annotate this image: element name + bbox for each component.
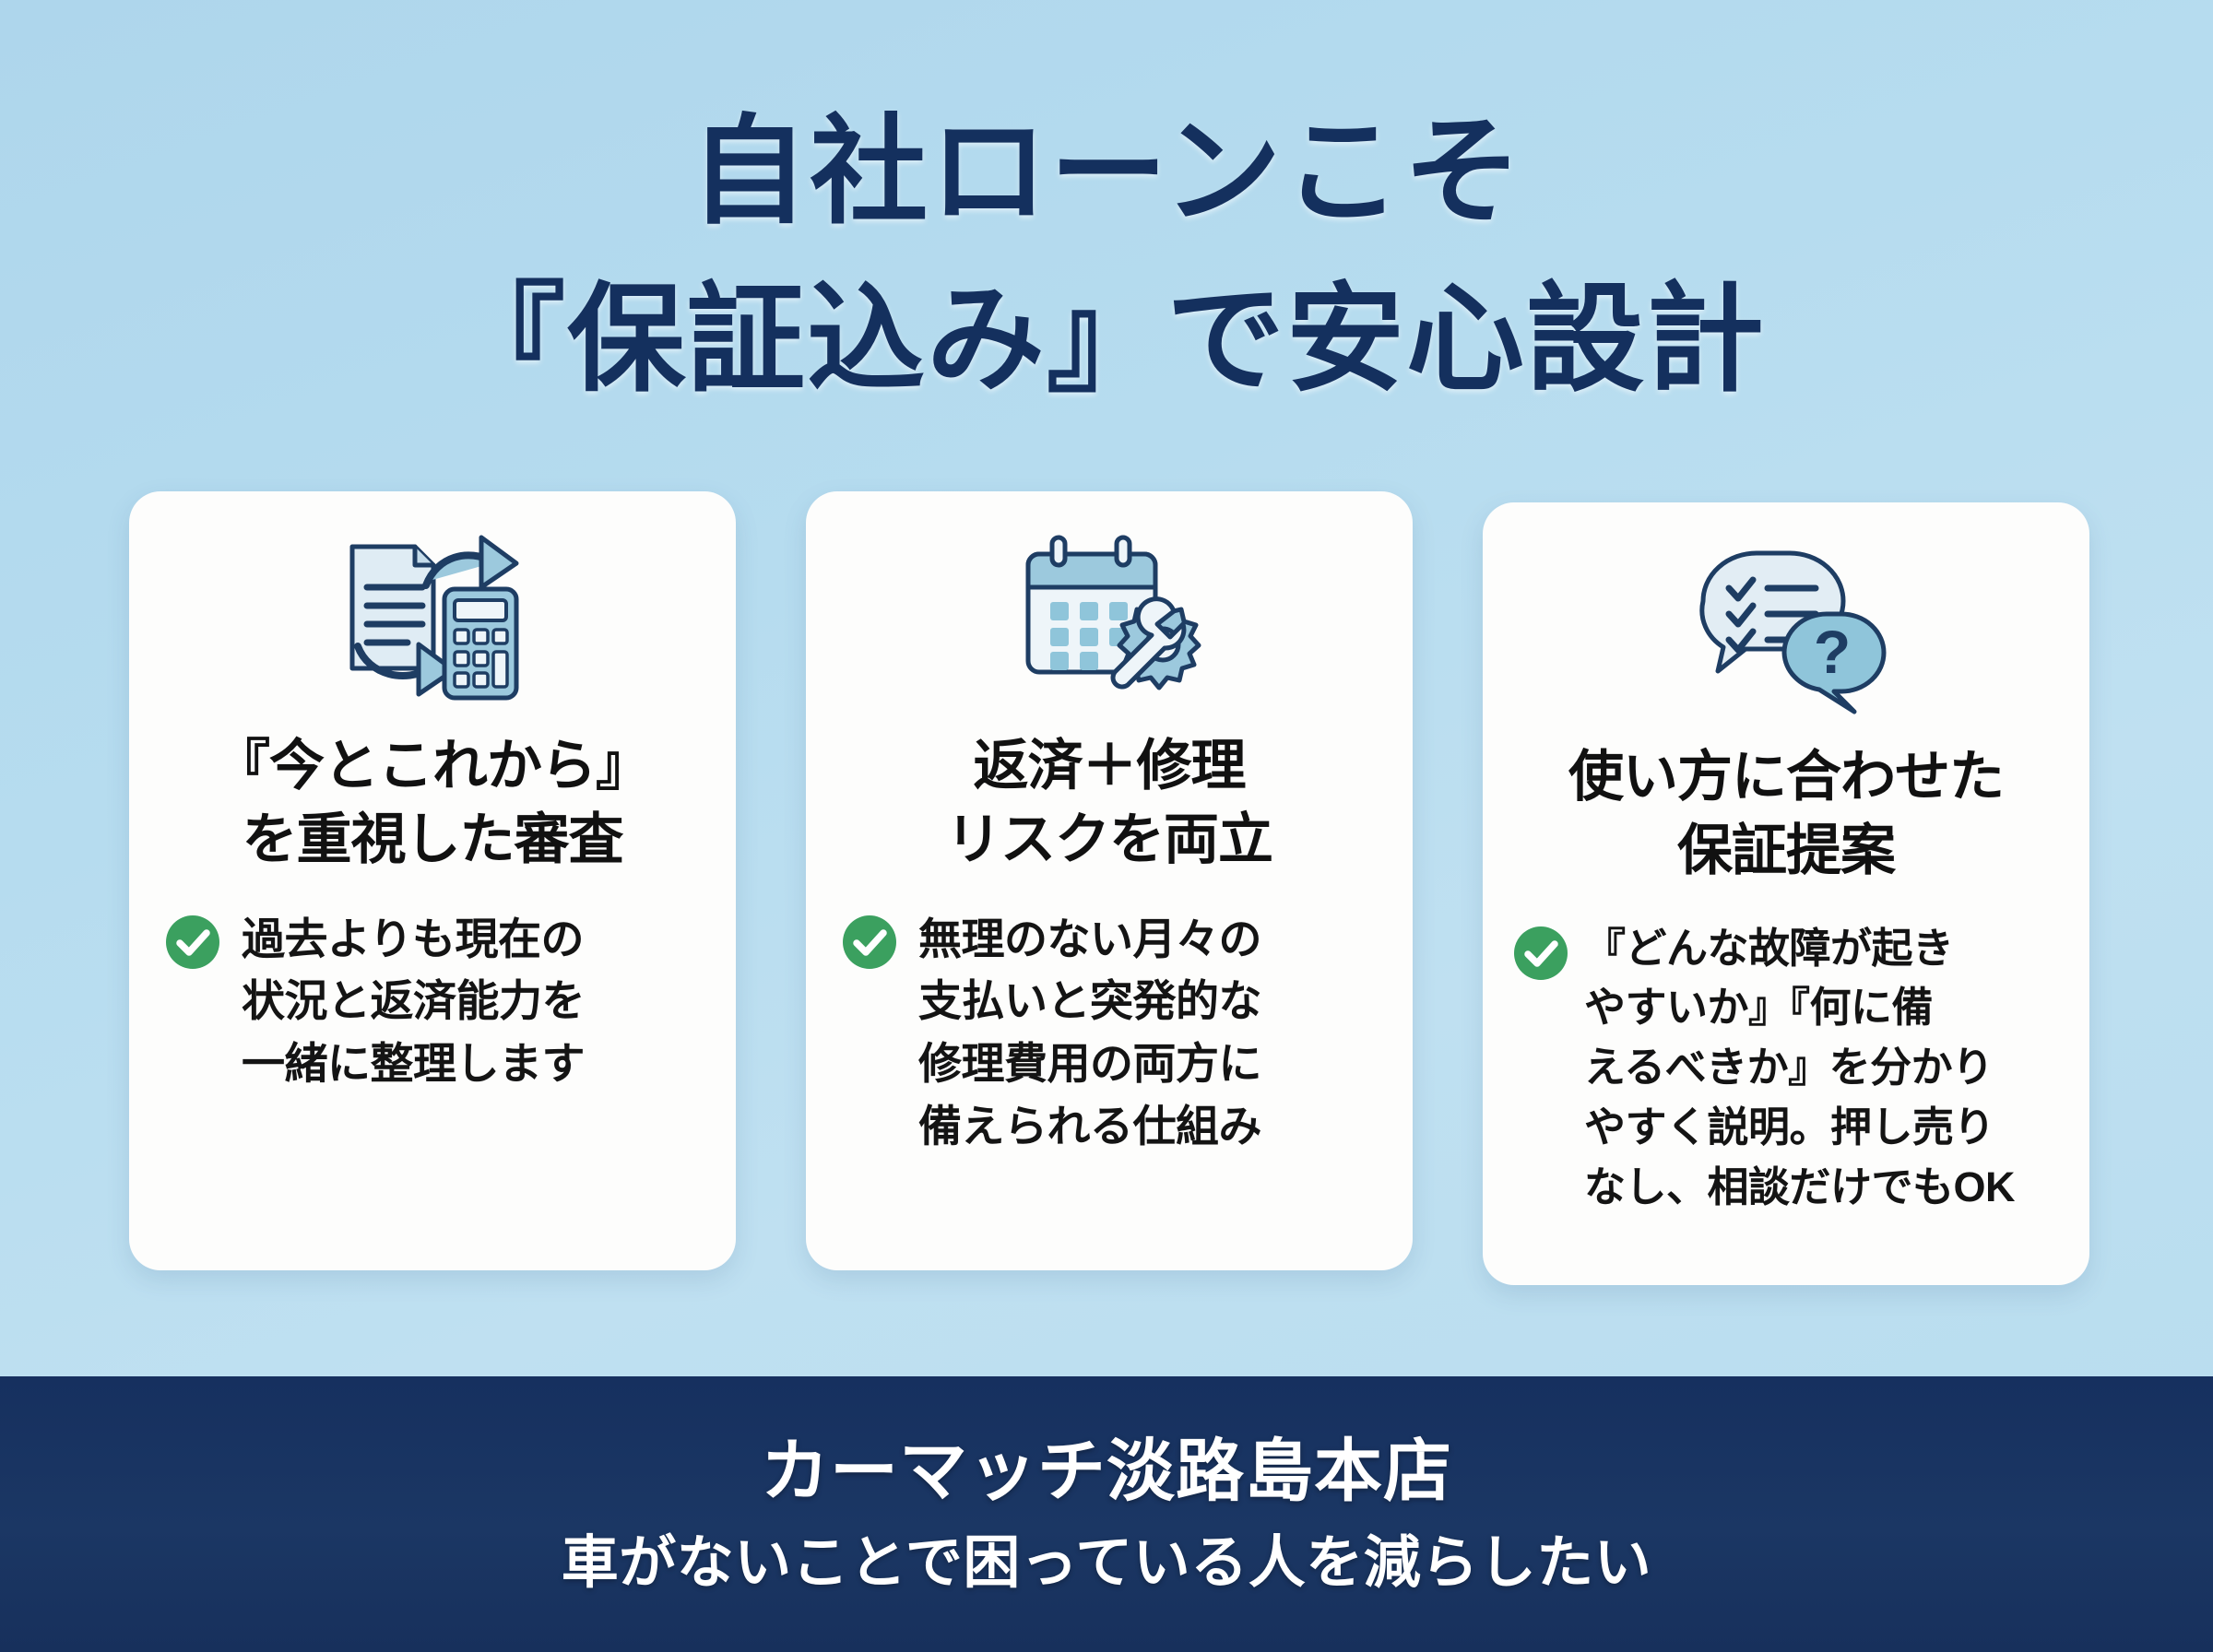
card-bullet: 『どんな故障が起き やすいか』『何に備 えるべきか』を分かり やすく説明。押し売… xyxy=(1507,919,2065,1218)
card-title-line: リスクを両立 xyxy=(946,803,1272,877)
card-bullet-text: 『どんな故障が起き やすいか』『何に備 えるべきか』を分かり やすく説明。押し売… xyxy=(1584,919,2015,1218)
card-title: 使い方に合わせた 保証提案 xyxy=(1568,740,2004,888)
card-title: 返済＋修理 リスクを両立 xyxy=(946,729,1272,877)
feature-card-row: 『今とこれから』 を重視した審査 過去よりも現在の 状況と返済能力を 一緒に整理… xyxy=(129,491,2089,1285)
card-bullet: 無理のない月々の 支払いと突発的な 修理費用の両方に 備えられる仕組み xyxy=(830,908,1389,1158)
svg-text:?: ? xyxy=(1814,618,1851,686)
chat-bubbles-checklist-question-icon: ? xyxy=(1685,541,1888,716)
check-circle-icon xyxy=(1512,925,1569,982)
card-title-line: 『今とこれから』 xyxy=(215,729,650,803)
store-name: カーマッチ淡路島本店 xyxy=(761,1431,1452,1513)
bullet-line: えるべきか』を分かり xyxy=(1584,1038,2015,1098)
bullet-line: 『どんな故障が起き xyxy=(1584,919,2015,979)
headline-line-1: 自社ローンこそ xyxy=(0,88,2213,256)
bullet-line: 無理のない月々の xyxy=(918,908,1261,971)
bullet-line: 過去よりも現在の xyxy=(242,908,585,971)
bullet-line: なし、相談だけでもOK xyxy=(1584,1158,2015,1218)
check-circle-icon xyxy=(164,914,221,971)
card-title-line: を重視した審査 xyxy=(215,803,650,877)
bullet-line: 修理費用の両方に xyxy=(918,1032,1261,1095)
bullet-line: 支払いと突発的な xyxy=(918,970,1261,1032)
card-bullet-text: 過去よりも現在の 状況と返済能力を 一緒に整理します xyxy=(242,908,585,1095)
feature-card-warranty-proposal: ? 使い方に合わせた 保証提案 『どんな故障が起き やすいか』『何に備 えるべき… xyxy=(1483,502,2089,1285)
card-title: 『今とこれから』 を重視した審査 xyxy=(215,729,650,877)
bullet-line: やすいか』『何に備 xyxy=(1584,978,2015,1038)
check-circle-icon xyxy=(841,914,898,971)
card-title-line: 使い方に合わせた xyxy=(1568,740,2004,814)
card-title-line: 返済＋修理 xyxy=(946,729,1272,803)
feature-card-screening: 『今とこれから』 を重視した審査 過去よりも現在の 状況と返済能力を 一緒に整理… xyxy=(129,491,736,1270)
card-title-line: 保証提案 xyxy=(1568,814,2004,888)
calendar-gear-wrench-icon xyxy=(1008,530,1211,705)
bullet-line: 一緒に整理します xyxy=(242,1032,585,1095)
footer-band: カーマッチ淡路島本店 車がないことで困っている人を減らしたい xyxy=(0,1376,2213,1652)
headline-line-2: 『保証込み』で安心設計 xyxy=(0,256,2213,424)
store-tagline: 車がないことで困っている人を減らしたい xyxy=(562,1529,1652,1598)
feature-card-repayment-repair: 返済＋修理 リスクを両立 無理のない月々の 支払いと突発的な 修理費用の両方に … xyxy=(806,491,1413,1270)
headline: 自社ローンこそ 『保証込み』で安心設計 xyxy=(0,88,2213,424)
bullet-line: やすく説明。押し売り xyxy=(1584,1098,2015,1158)
infographic-root: 自社ローンこそ 『保証込み』で安心設計 xyxy=(0,0,2213,1652)
bullet-line: 状況と返済能力を xyxy=(242,970,585,1032)
document-exchange-calculator-icon xyxy=(326,530,538,705)
card-bullet-text: 無理のない月々の 支払いと突発的な 修理費用の両方に 備えられる仕組み xyxy=(918,908,1261,1158)
bullet-line: 備えられる仕組み xyxy=(918,1095,1261,1158)
card-bullet: 過去よりも現在の 状況と返済能力を 一緒に整理します xyxy=(153,908,712,1095)
